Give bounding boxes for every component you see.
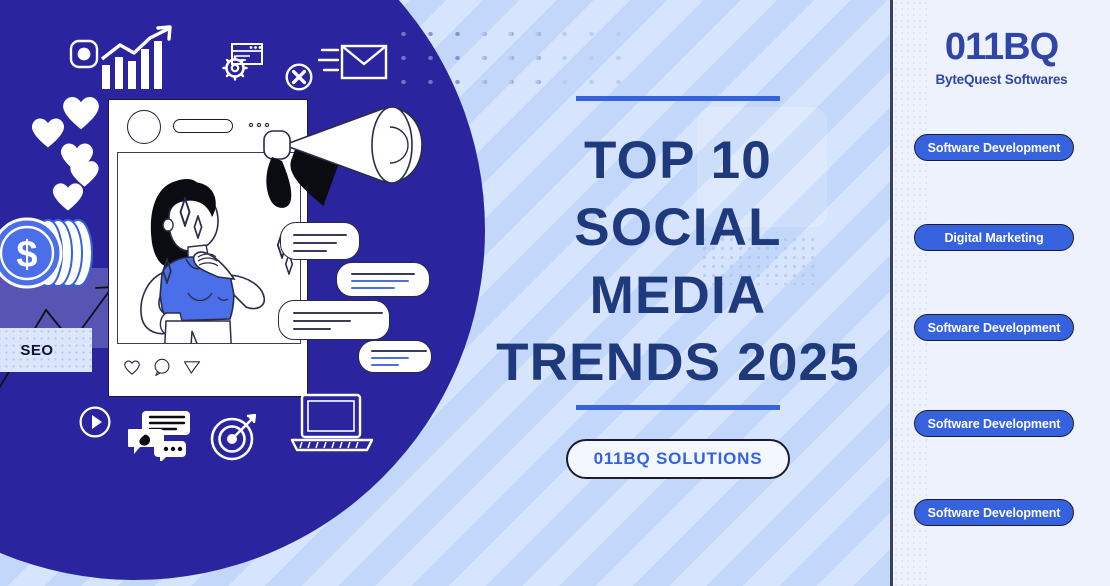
headline-top-rule [576, 96, 780, 101]
brand-logo: 011BQ ByteQuest Softwares [893, 28, 1110, 87]
headline-line-1: TOP 10 [496, 127, 860, 194]
logo-tagline: ByteQuest Softwares [893, 72, 1110, 87]
logo-wordmark: 011BQ [893, 28, 1110, 66]
main-canvas: $ SEO [0, 0, 890, 586]
sparkle-icon [186, 215, 210, 239]
headline-line-4: TRENDS 2025 [496, 329, 860, 396]
seo-tag-label: SEO [20, 342, 53, 359]
send-icon[interactable] [183, 358, 201, 376]
headline-block: TOP 10 SOCIAL MEDIA TRENDS 2025 011BQ SO… [466, 0, 890, 586]
post-username-bar [173, 119, 233, 133]
solutions-badge[interactable]: 011BQ SOLUTIONS [566, 439, 791, 479]
growth-chart-icon [100, 25, 176, 91]
page-title: TOP 10 SOCIAL MEDIA TRENDS 2025 [496, 127, 860, 396]
target-icon [209, 413, 259, 461]
chat-message-card [278, 300, 390, 340]
megaphone-icon [262, 95, 442, 225]
post-action-row [123, 358, 201, 376]
sidebar-button-software-development-2[interactable]: Software Development [914, 314, 1074, 341]
sidebar-button-digital-marketing[interactable]: Digital Marketing [914, 224, 1074, 251]
right-sidebar: 011BQ ByteQuest Softwares Software Devel… [890, 0, 1110, 586]
sidebar-button-software-development-4[interactable]: Software Development [914, 499, 1074, 526]
headline-bottom-rule [576, 405, 780, 410]
laptop-icon [288, 392, 376, 454]
sparkle-icon [154, 258, 180, 284]
chat-bubbles-icon [128, 403, 192, 461]
chat-message-card [280, 222, 360, 260]
close-circle-icon [285, 63, 313, 91]
play-circle-icon [79, 406, 111, 438]
social-media-illustration: $ SEO [0, 0, 520, 586]
sidebar-button-software-development-1[interactable]: Software Development [914, 134, 1074, 161]
seo-tag: SEO [0, 328, 92, 372]
heart-icon[interactable] [123, 358, 141, 376]
poster-canvas: $ SEO [0, 0, 1110, 586]
gear-browser-icon [220, 42, 264, 84]
instagram-icon [68, 38, 100, 70]
avatar [127, 110, 161, 144]
sidebar-texture [893, 0, 927, 586]
heart-icon [50, 180, 86, 212]
svg-text:$: $ [16, 234, 37, 276]
sidebar-button-software-development-3[interactable]: Software Development [914, 410, 1074, 437]
headline-line-2: SOCIAL [496, 194, 860, 261]
comment-icon[interactable] [153, 358, 171, 376]
headline-line-3: MEDIA [496, 262, 860, 329]
chat-message-card [336, 262, 430, 297]
chat-message-card [358, 340, 432, 373]
envelope-icon [318, 42, 388, 82]
